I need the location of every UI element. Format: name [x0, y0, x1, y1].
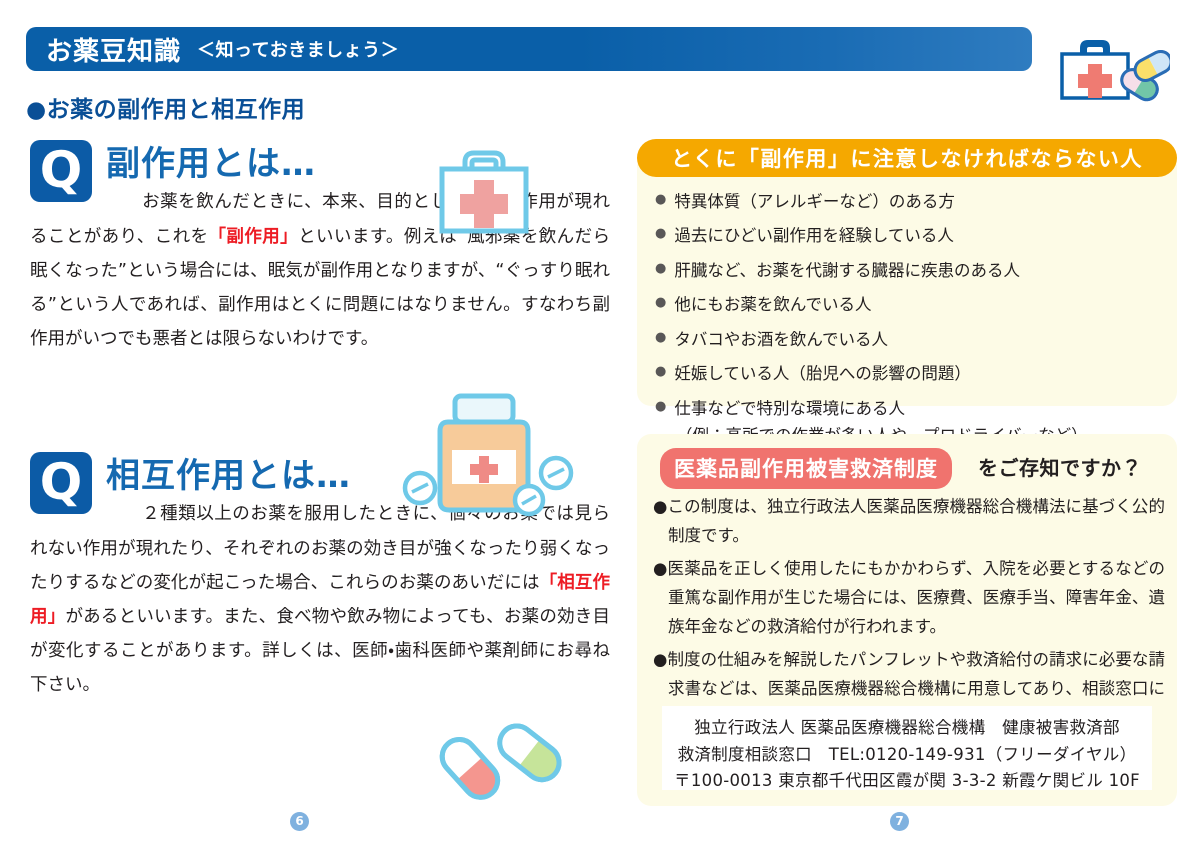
qa-body: ２種類以上のお薬を服用したときに、個々のお薬では見られない作用が現れたり、それぞ…: [30, 497, 610, 702]
bullet-icon: ●: [655, 362, 666, 383]
bullet-icon: ●: [655, 224, 666, 245]
page-number-left: 6: [290, 812, 309, 831]
qa-body-part2: があるといいます。また、食べ物や飲み物によっても、お薬の効き目が変化することがあ…: [30, 607, 610, 695]
qa-body-highlight: 「副作用」: [208, 227, 298, 247]
bullet-icon: ●: [655, 328, 666, 349]
list-item: ● 他にもお薬を飲んでいる人: [655, 293, 1165, 317]
contact-organization: 独立行政法人 医薬品医療機器総合機構 健康被害救済部: [662, 715, 1152, 742]
list-item: ● タバコやお酒を飲んでいる人: [655, 328, 1165, 352]
page-subtitle: ＜知っておきましょう＞: [197, 36, 399, 62]
list-item: ● 仕事などで特別な環境にある人: [655, 397, 1165, 421]
first-aid-kit-icon: [1040, 30, 1170, 110]
question-badge: Q: [30, 140, 92, 202]
bullet-icon: ●: [655, 397, 666, 418]
relief-system-badge-suffix: をご存知ですか？: [978, 452, 1142, 481]
list-item: ● 妊娠している人（胎児への影響の問題）: [655, 362, 1165, 386]
list-item: ● 過去にひどい副作用を経験している人: [655, 224, 1165, 248]
contact-phone: 救済制度相談窓口 TEL:0120-149-931（フリーダイヤル）: [662, 742, 1152, 769]
contact-info-box: 独立行政法人 医薬品医療機器総合機構 健康被害救済部 救済制度相談窓口 TEL:…: [662, 706, 1152, 790]
caution-list: ● 特異体質（アレルギーなど）のある方 ● 過去にひどい副作用を経験している人 …: [655, 190, 1165, 448]
list-item-label: 仕事などで特別な環境にある人: [674, 397, 905, 421]
medical-bag-icon: [432, 148, 536, 240]
relief-system-badge: 医薬品副作用被害救済制度: [660, 448, 952, 489]
list-item-label: 過去にひどい副作用を経験している人: [674, 224, 954, 248]
bullet-icon: ●: [655, 259, 666, 280]
page-title: お薬豆知識: [46, 31, 181, 68]
page-header-bar: お薬豆知識 ＜知っておきましょう＞: [26, 27, 1032, 71]
relief-system-list: ●この制度は、独立行政法人医薬品医療機器総合機構法に基づく公的制度です。 ●医薬…: [653, 492, 1165, 736]
list-item: ●医薬品を正しく使用したにもかかわらず、入院を必要とするなどの重篤な副作用が生じ…: [653, 554, 1165, 642]
list-item-label: 妊娠している人（胎児への影響の問題）: [674, 362, 971, 386]
question-badge: Q: [30, 452, 92, 514]
list-item: ● 肝臓など、お薬を代謝する臓器に疾患のある人: [655, 259, 1165, 283]
contact-address: 〒100-0013 東京都千代田区霞が関 3-3-2 新霞ケ関ビル 10F: [662, 768, 1152, 795]
section-title: ●お薬の副作用と相互作用: [26, 90, 305, 124]
caution-panel-header: とくに「副作用」に注意しなければならない人: [637, 139, 1177, 177]
list-item-label: タバコやお酒を飲んでいる人: [674, 328, 888, 352]
page-number-right: 7: [890, 812, 909, 831]
list-item: ● 特異体質（アレルギーなど）のある方: [655, 190, 1165, 214]
list-item-label: 肝臓など、お薬を代謝する臓器に疾患のある人: [674, 259, 1020, 283]
list-item-label: 他にもお薬を飲んでいる人: [674, 293, 871, 317]
bullet-icon: ●: [655, 190, 666, 211]
bullet-icon: ●: [655, 293, 666, 314]
caution-panel-heading: とくに「副作用」に注意しなければならない人: [671, 143, 1143, 173]
list-item: ●この制度は、独立行政法人医薬品医療機器総合機構法に基づく公的制度です。: [653, 492, 1165, 551]
medicine-bottle-icon: [400, 388, 585, 518]
list-item-label: 特異体質（アレルギーなど）のある方: [674, 190, 955, 214]
capsules-icon: [408, 705, 593, 820]
